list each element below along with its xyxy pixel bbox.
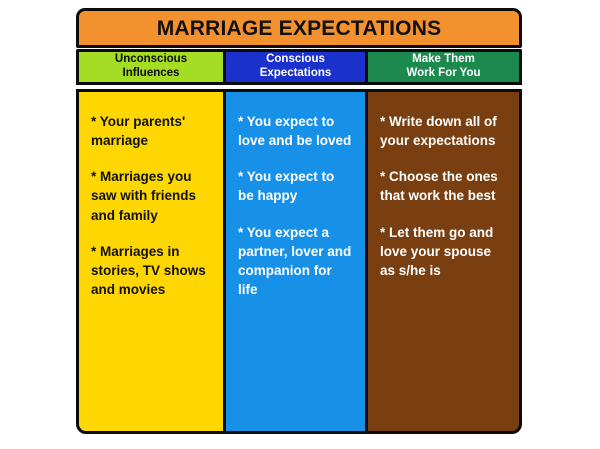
column-header-conscious-expectations: Conscious Expectations bbox=[226, 49, 368, 85]
list-item: * You expect a partner, lover and compan… bbox=[238, 223, 353, 300]
column-header-line2: Work For You bbox=[406, 67, 480, 79]
list-item: * Marriages you saw with friends and fam… bbox=[91, 167, 211, 224]
title-banner: MARRIAGE EXPECTATIONS bbox=[76, 8, 522, 48]
column-header-line1: Conscious bbox=[266, 53, 325, 65]
columns-container: Unconscious Influences * Your parents' m… bbox=[76, 49, 522, 434]
list-item: * Choose the ones that work the best bbox=[380, 167, 507, 205]
column-header-line1: Make Them bbox=[412, 53, 475, 65]
list-item: * You expect to be happy bbox=[238, 167, 353, 205]
list-item: * Your parents' marriage bbox=[91, 112, 211, 150]
column-body-conscious-expectations: * You expect to love and be loved * You … bbox=[226, 89, 368, 434]
column-header-unconscious-influences: Unconscious Influences bbox=[76, 49, 226, 85]
list-item: * Marriages in stories, TV shows and mov… bbox=[91, 242, 211, 299]
column-conscious-expectations: Conscious Expectations * You expect to l… bbox=[226, 49, 368, 434]
list-item: * Write down all of your expectations bbox=[380, 112, 507, 150]
page-title: MARRIAGE EXPECTATIONS bbox=[157, 18, 442, 39]
column-header-line2: Influences bbox=[123, 67, 180, 79]
list-item: * Let them go and love your spouse as s/… bbox=[380, 223, 507, 280]
column-body-unconscious-influences: * Your parents' marriage * Marriages you… bbox=[76, 89, 226, 434]
marriage-expectations-infographic: MARRIAGE EXPECTATIONS Unconscious Influe… bbox=[76, 8, 522, 434]
column-header-make-them-work-for-you: Make Them Work For You bbox=[368, 49, 522, 85]
column-header-line2: Expectations bbox=[260, 67, 332, 79]
column-body-make-them-work-for-you: * Write down all of your expectations * … bbox=[368, 89, 522, 434]
column-header-line1: Unconscious bbox=[115, 53, 187, 65]
column-make-them-work-for-you: Make Them Work For You * Write down all … bbox=[368, 49, 522, 434]
column-unconscious-influences: Unconscious Influences * Your parents' m… bbox=[76, 49, 226, 434]
list-item: * You expect to love and be loved bbox=[238, 112, 353, 150]
